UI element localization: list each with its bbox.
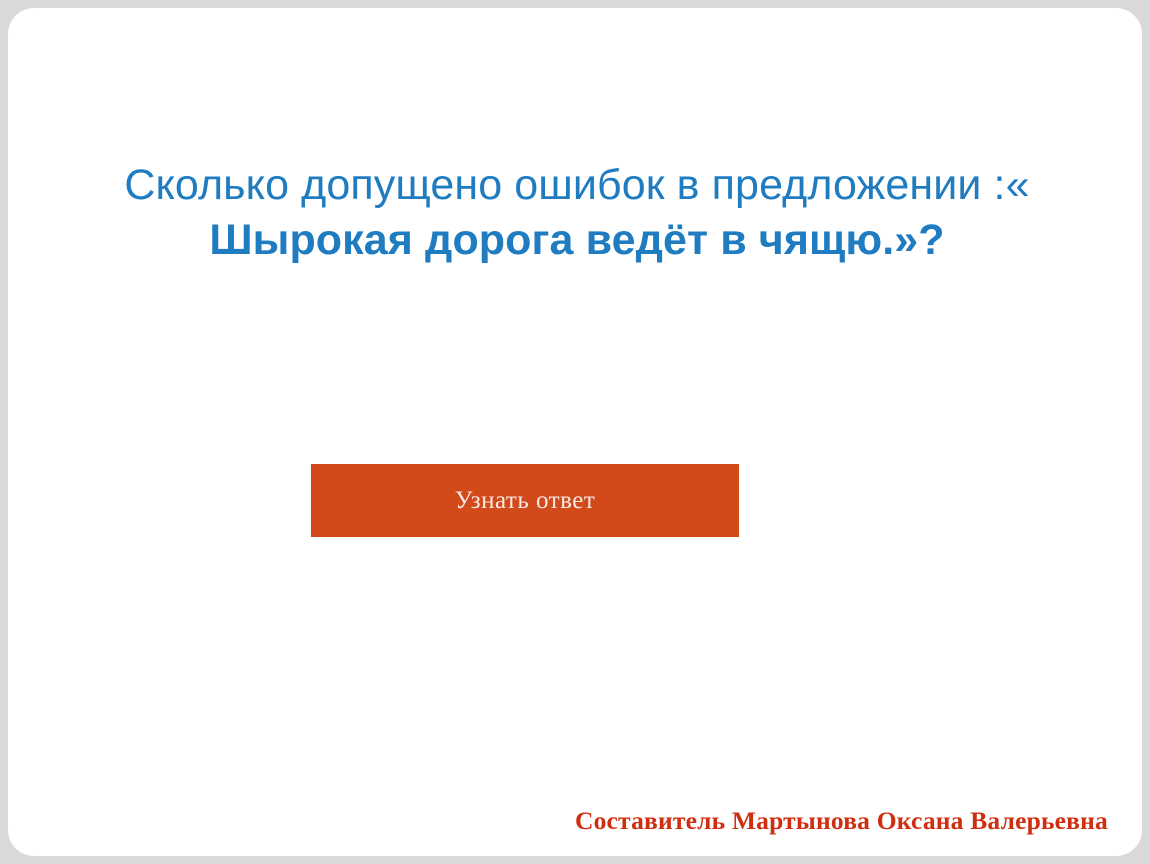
author-credit: Составитель Мартынова Оксана Валерьевна	[8, 806, 1108, 836]
slide-canvas: Сколько допущено ошибок в предложении :«…	[8, 8, 1142, 856]
question-emphasis-text: Шырокая дорога ведёт в чящю.»?	[209, 216, 944, 264]
question-title: Сколько допущено ошибок в предложении :«…	[112, 158, 1042, 268]
question-lead-text: Сколько допущено ошибок в предложении :«	[124, 161, 1029, 209]
reveal-answer-button[interactable]: Узнать ответ	[311, 464, 739, 537]
